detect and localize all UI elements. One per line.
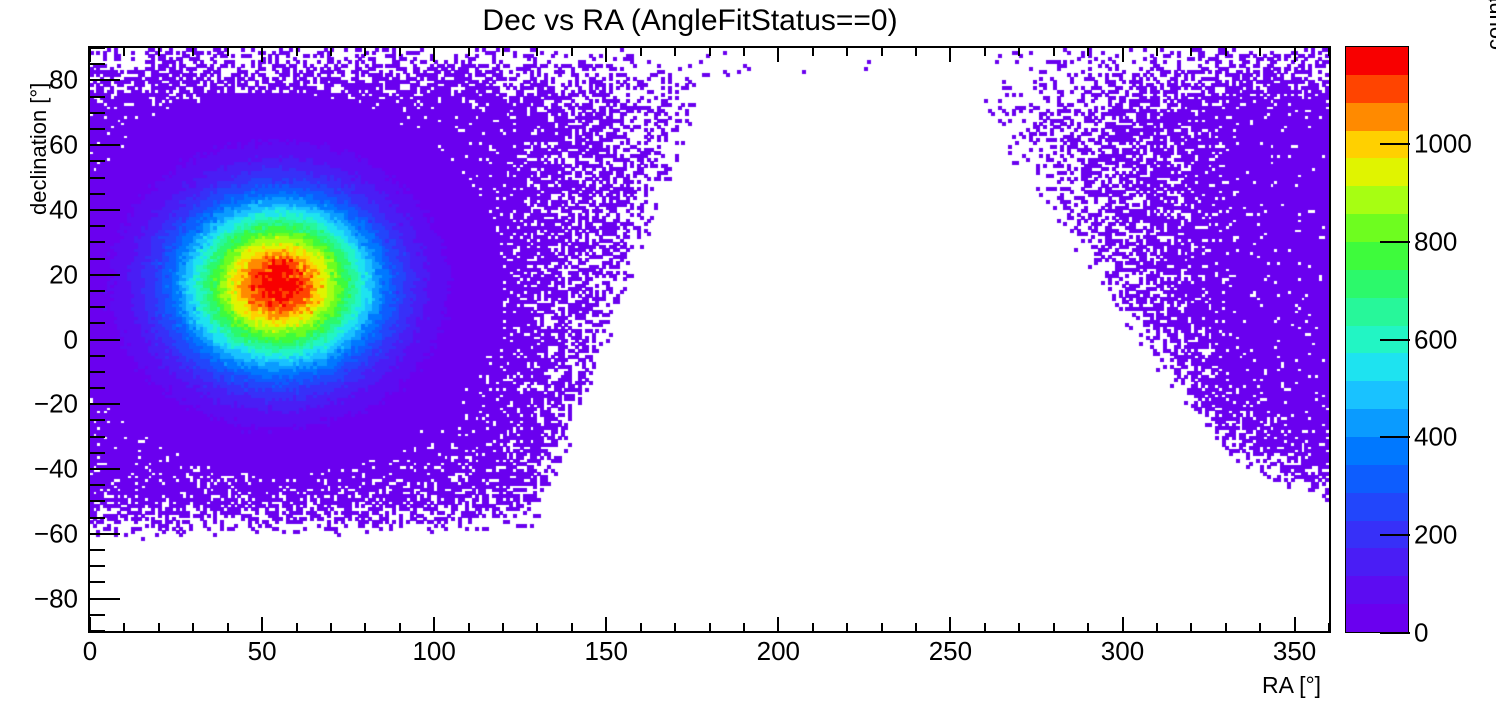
- x-tick-minor-top: [399, 48, 401, 56]
- y-tick-minor: [90, 355, 105, 357]
- color-scale-tick-label: 600: [1414, 324, 1457, 355]
- color-scale-band: [1346, 548, 1408, 576]
- y-tick-minor: [90, 306, 105, 308]
- y-tick-minor: [90, 193, 105, 195]
- x-tick-minor: [123, 623, 125, 631]
- x-tick-minor-top: [158, 48, 160, 56]
- y-tick-label: 20: [20, 259, 78, 290]
- y-tick-label: −40: [20, 454, 78, 485]
- x-tick-minor: [296, 623, 298, 631]
- x-tick-minor-top: [709, 48, 711, 56]
- y-tick-minor: [90, 614, 105, 616]
- color-scale-tick: [1380, 143, 1410, 145]
- x-tick-minor-top: [1053, 48, 1055, 56]
- y-tick-minor: [90, 47, 105, 49]
- y-tick-minor: [90, 63, 105, 65]
- y-tick-minor: [90, 177, 105, 179]
- x-tick-minor-top: [571, 48, 573, 56]
- color-scale-band: [1346, 465, 1408, 493]
- x-tick-minor: [1156, 623, 1158, 631]
- x-tick-minor-top: [846, 48, 848, 56]
- x-tick-minor: [158, 623, 160, 631]
- y-tick-minor: [90, 581, 105, 583]
- x-tick-major-top: [605, 48, 607, 62]
- x-tick-major-top: [777, 48, 779, 62]
- x-tick-major: [949, 617, 951, 631]
- x-tick-minor: [1259, 623, 1261, 631]
- x-tick-major-top: [89, 48, 91, 62]
- y-tick-label: −60: [20, 518, 78, 549]
- x-tick-minor: [227, 623, 229, 631]
- x-tick-label: 100: [412, 636, 455, 667]
- x-tick-major-top: [261, 48, 263, 62]
- y-tick-label: −20: [20, 389, 78, 420]
- x-tick-minor-top: [915, 48, 917, 56]
- x-tick-label: 250: [929, 636, 972, 667]
- color-scale-band: [1346, 270, 1408, 298]
- x-tick-minor: [1018, 623, 1020, 631]
- x-tick-label: 150: [585, 636, 628, 667]
- y-tick-minor: [90, 225, 105, 227]
- x-tick-major-top: [433, 48, 435, 62]
- x-tick-minor: [709, 623, 711, 631]
- y-tick-minor: [90, 128, 105, 130]
- color-scale-band: [1346, 298, 1408, 326]
- y-tick-major: [90, 274, 120, 276]
- x-tick-major-top: [949, 48, 951, 62]
- x-tick-minor-top: [536, 48, 538, 56]
- x-tick-minor: [743, 623, 745, 631]
- y-tick-major: [90, 403, 120, 405]
- x-tick-minor-top: [192, 48, 194, 56]
- x-tick-minor-top: [330, 48, 332, 56]
- x-tick-label: 200: [757, 636, 800, 667]
- x-tick-minor-top: [674, 48, 676, 56]
- x-tick-label: 0: [83, 636, 97, 667]
- x-tick-minor: [674, 623, 676, 631]
- x-tick-minor-top: [743, 48, 745, 56]
- color-scale-tick: [1380, 241, 1410, 243]
- x-tick-minor: [468, 623, 470, 631]
- color-scale-band: [1346, 242, 1408, 270]
- color-scale-tick: [1380, 534, 1410, 536]
- color-scale-band: [1346, 381, 1408, 409]
- x-tick-minor-top: [1156, 48, 1158, 56]
- x-tick-minor-top: [468, 48, 470, 56]
- y-axis-title: declination [°]: [26, 83, 52, 215]
- page-title: Dec vs RA (AngleFitStatus==0): [0, 4, 1380, 38]
- x-tick-minor-top: [123, 48, 125, 56]
- y-tick-major: [90, 468, 120, 470]
- heatmap-canvas: [90, 48, 1329, 631]
- x-tick-minor-top: [1328, 48, 1330, 56]
- color-scale-band: [1346, 103, 1408, 131]
- x-tick-minor: [536, 623, 538, 631]
- color-scale-tick-label: 0: [1414, 618, 1428, 649]
- y-tick-minor: [90, 96, 105, 98]
- y-tick-major: [90, 144, 120, 146]
- color-scale-band: [1346, 493, 1408, 521]
- y-tick-minor: [90, 371, 105, 373]
- x-tick-minor-top: [1087, 48, 1089, 56]
- x-tick-minor: [1190, 623, 1192, 631]
- x-tick-major-top: [1122, 48, 1124, 62]
- y-tick-minor: [90, 160, 105, 162]
- y-tick-minor: [90, 484, 105, 486]
- x-tick-minor: [1053, 623, 1055, 631]
- x-tick-minor-top: [984, 48, 986, 56]
- x-tick-minor: [1328, 623, 1330, 631]
- color-scale-band: [1346, 75, 1408, 103]
- y-tick-minor: [90, 452, 105, 454]
- color-scale-band: [1346, 186, 1408, 214]
- x-tick-minor: [502, 623, 504, 631]
- color-scale-band: [1346, 437, 1408, 465]
- x-tick-minor: [846, 623, 848, 631]
- x-tick-major: [1294, 617, 1296, 631]
- x-tick-minor-top: [812, 48, 814, 56]
- x-tick-minor: [364, 623, 366, 631]
- y-tick-minor: [90, 387, 105, 389]
- x-tick-minor: [1225, 623, 1227, 631]
- color-scale-band: [1346, 576, 1408, 604]
- y-tick-minor: [90, 112, 105, 114]
- x-tick-minor: [984, 623, 986, 631]
- y-tick-minor: [90, 419, 105, 421]
- color-scale-tick: [1380, 632, 1410, 634]
- y-tick-label: 0: [20, 324, 78, 355]
- y-tick-minor: [90, 549, 105, 551]
- x-tick-minor-top: [296, 48, 298, 56]
- chart-canvas: Dec vs RA (AngleFitStatus==0) 0501001502…: [0, 0, 1496, 722]
- plot-frame: [88, 46, 1331, 633]
- y-tick-minor: [90, 565, 105, 567]
- x-tick-minor: [1087, 623, 1089, 631]
- x-tick-minor: [812, 623, 814, 631]
- x-axis-title: RA [°]: [1262, 672, 1321, 699]
- y-tick-major: [90, 339, 120, 341]
- x-tick-minor-top: [364, 48, 366, 56]
- x-tick-minor-top: [1259, 48, 1261, 56]
- y-tick-minor: [90, 517, 105, 519]
- x-tick-label: 300: [1101, 636, 1144, 667]
- x-tick-major: [433, 617, 435, 631]
- x-tick-major: [89, 617, 91, 631]
- color-scale-band: [1346, 158, 1408, 186]
- x-tick-minor: [330, 623, 332, 631]
- y-tick-minor: [90, 500, 105, 502]
- y-tick-major: [90, 209, 120, 211]
- y-tick-major: [90, 79, 120, 81]
- color-scale-tick-label: 400: [1414, 422, 1457, 453]
- x-tick-minor-top: [1225, 48, 1227, 56]
- color-scale-band: [1346, 214, 1408, 242]
- y-tick-minor: [90, 258, 105, 260]
- x-tick-major: [605, 617, 607, 631]
- y-tick-minor: [90, 630, 105, 632]
- color-scale-tick: [1380, 436, 1410, 438]
- x-tick-minor: [571, 623, 573, 631]
- y-tick-minor: [90, 436, 105, 438]
- x-tick-major: [261, 617, 263, 631]
- x-tick-minor-top: [881, 48, 883, 56]
- x-tick-minor-top: [502, 48, 504, 56]
- color-scale-tick-label: 800: [1414, 226, 1457, 257]
- x-tick-major: [777, 617, 779, 631]
- x-tick-label: 50: [248, 636, 277, 667]
- x-tick-minor: [915, 623, 917, 631]
- color-scale-title: count: [1482, 0, 1496, 50]
- color-scale-band: [1346, 604, 1408, 632]
- color-scale-band: [1346, 353, 1408, 381]
- x-tick-minor: [399, 623, 401, 631]
- x-tick-major-top: [1294, 48, 1296, 62]
- x-tick-major: [1122, 617, 1124, 631]
- color-scale-tick-label: 200: [1414, 520, 1457, 551]
- x-tick-minor: [640, 623, 642, 631]
- x-tick-minor: [192, 623, 194, 631]
- x-tick-minor-top: [1190, 48, 1192, 56]
- color-scale-tick: [1380, 339, 1410, 341]
- x-tick-minor: [881, 623, 883, 631]
- color-scale-tick-label: 1000: [1414, 128, 1472, 159]
- y-tick-major: [90, 533, 120, 535]
- y-tick-minor: [90, 322, 105, 324]
- y-tick-major: [90, 598, 120, 600]
- y-tick-minor: [90, 241, 105, 243]
- color-scale-band: [1346, 47, 1408, 75]
- x-tick-minor-top: [640, 48, 642, 56]
- color-scale-band: [1346, 409, 1408, 437]
- x-tick-minor-top: [1018, 48, 1020, 56]
- x-tick-minor-top: [227, 48, 229, 56]
- y-tick-label: −80: [20, 583, 78, 614]
- y-tick-minor: [90, 290, 105, 292]
- x-tick-label: 350: [1273, 636, 1316, 667]
